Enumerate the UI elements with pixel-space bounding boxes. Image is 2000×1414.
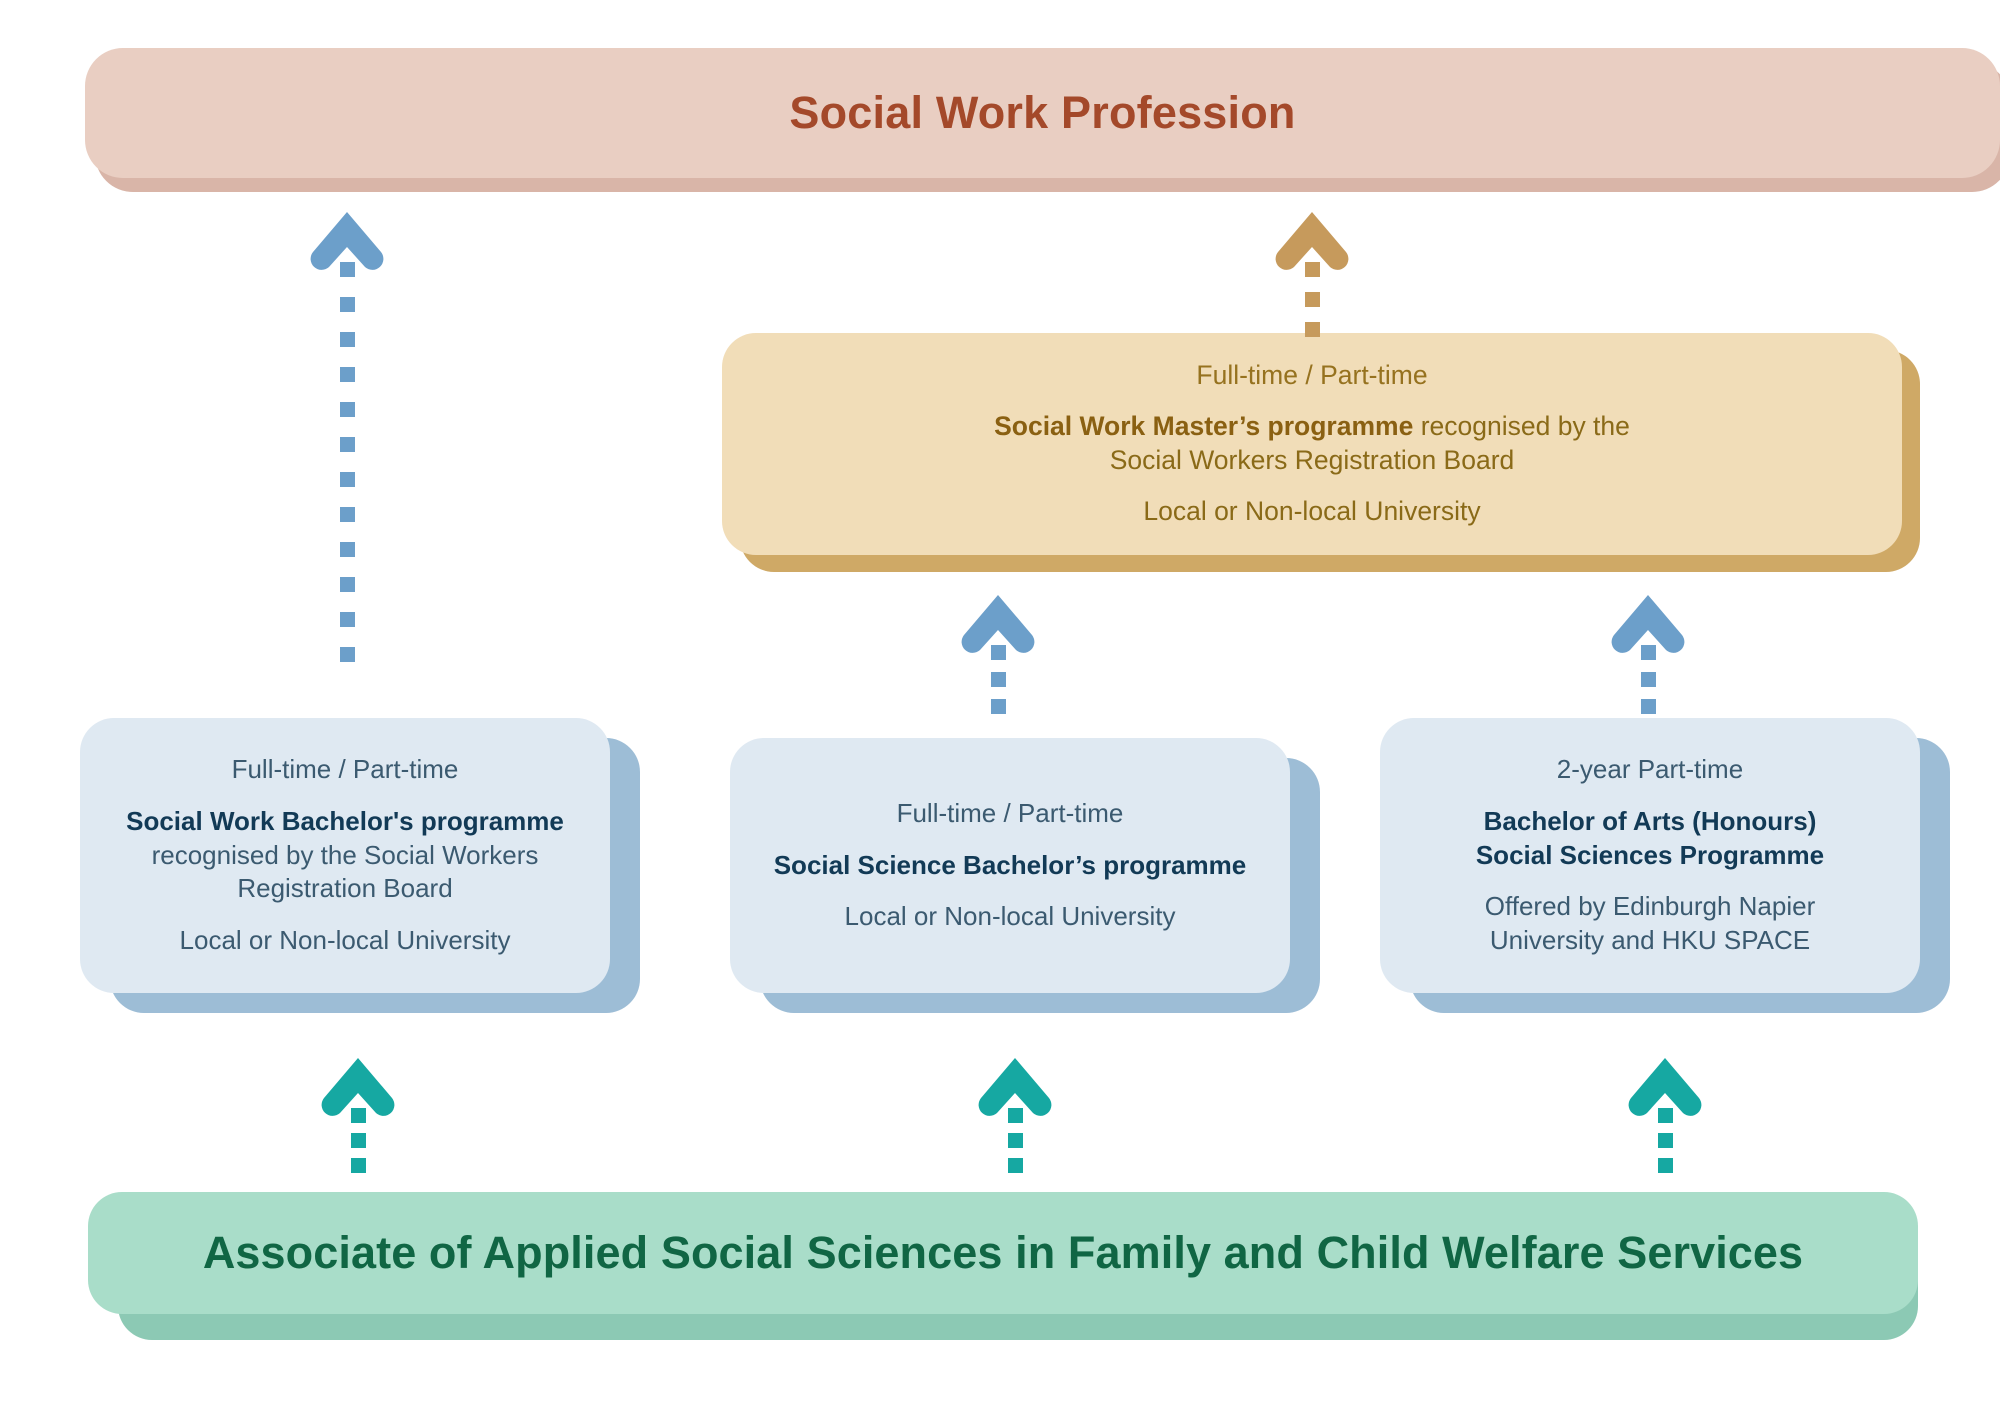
box2-provider: Local or Non-local University <box>845 900 1176 934</box>
box3-detail-line2: University and HKU SPACE <box>1490 924 1810 958</box>
arrow-bachelor1-to-profession <box>307 200 387 710</box>
diagram-canvas: Social Work Profession <box>0 0 2000 1414</box>
box3-programme-name-line2: Social Sciences Programme <box>1476 839 1824 873</box>
master-provider: Local or Non-local University <box>1143 495 1480 529</box>
box1-provider: Local or Non-local University <box>180 924 511 958</box>
box1-programme-name: Social Work Bachelor's programme <box>126 805 564 839</box>
ba-honours-social-sciences-box: 2-year Part-time Bachelor of Arts (Honou… <box>1380 718 1920 993</box>
box1-detail-line2: Registration Board <box>237 872 452 906</box>
box3-detail-line1: Offered by Edinburgh Napier <box>1485 890 1816 924</box>
arrow-associate-to-bachelor2 <box>975 1048 1055 1183</box>
associate-title: Associate of Applied Social Sciences in … <box>203 1227 1803 1279</box>
associate-banner: Associate of Applied Social Sciences in … <box>88 1192 1918 1314</box>
box1-detail-line1: recognised by the Social Workers <box>152 839 539 873</box>
box2-mode: Full-time / Part-time <box>897 797 1124 831</box>
master-programme-name: Social Work Master’s programme <box>994 411 1413 441</box>
box2-programme-name: Social Science Bachelor’s programme <box>774 849 1247 883</box>
social-work-profession-banner: Social Work Profession <box>85 48 2000 178</box>
arrow-bachelor3-to-master <box>1608 583 1688 723</box>
master-programme-line2: Social Workers Registration Board <box>1110 444 1515 478</box>
arrow-associate-to-bachelor3 <box>1625 1048 1705 1183</box>
arrow-master-to-profession <box>1272 200 1352 350</box>
social-science-bachelor-box: Full-time / Part-time Social Science Bac… <box>730 738 1290 993</box>
box3-mode: 2-year Part-time <box>1557 753 1743 787</box>
page-title: Social Work Profession <box>789 87 1295 139</box>
master-programme-line1: Social Work Master’s programme recognise… <box>994 410 1630 444</box>
arrow-bachelor2-to-master <box>958 583 1038 723</box>
box3-programme-name-line1: Bachelor of Arts (Honours) <box>1484 805 1817 839</box>
social-work-bachelor-box: Full-time / Part-time Social Work Bachel… <box>80 718 610 993</box>
master-programme-box: Full-time / Part-time Social Work Master… <box>722 333 1902 555</box>
box1-mode: Full-time / Part-time <box>232 753 459 787</box>
master-mode: Full-time / Part-time <box>1196 359 1427 393</box>
master-programme-suffix: recognised by the <box>1413 411 1630 441</box>
arrow-associate-to-bachelor1 <box>318 1048 398 1183</box>
